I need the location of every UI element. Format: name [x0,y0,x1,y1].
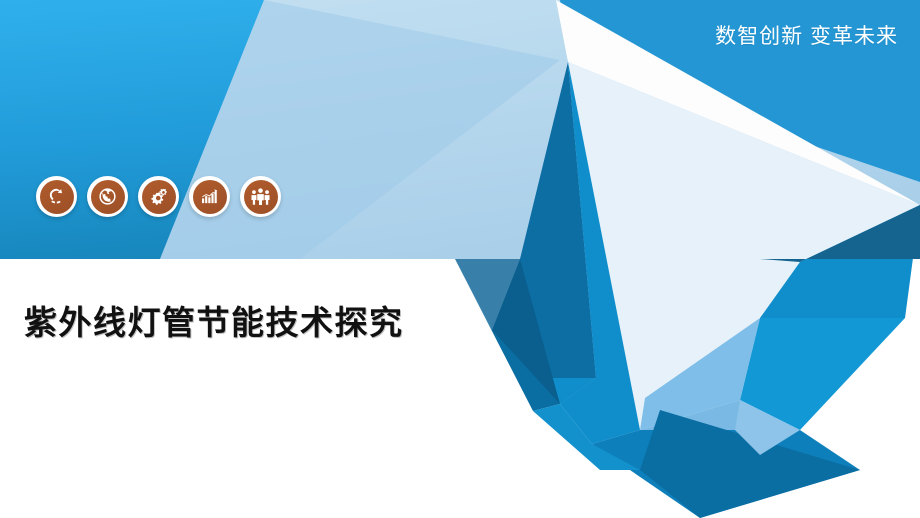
globe-glyph [97,186,118,207]
page-title: 紫外线灯管节能技术探究 [24,296,404,344]
icon-row [36,176,281,217]
gears-icon[interactable] [138,176,179,217]
gears-glyph [148,186,170,208]
presentation-slide: 数智创新 变革未来 [0,0,920,518]
recycle-icon-disc [40,180,74,214]
bar-chart-glyph [199,186,220,207]
globe-icon[interactable] [87,176,128,217]
bar-chart-icon-disc [193,180,227,214]
gears-icon-disc [142,180,176,214]
background-artwork [0,0,920,518]
bar-chart-icon[interactable] [189,176,230,217]
globe-icon-disc [91,180,125,214]
team-icon[interactable] [240,176,281,217]
recycle-icon[interactable] [36,176,77,217]
tagline-text: 数智创新 变革未来 [715,24,898,49]
team-glyph [249,185,272,208]
team-icon-disc [244,180,278,214]
recycle-glyph [46,186,67,207]
